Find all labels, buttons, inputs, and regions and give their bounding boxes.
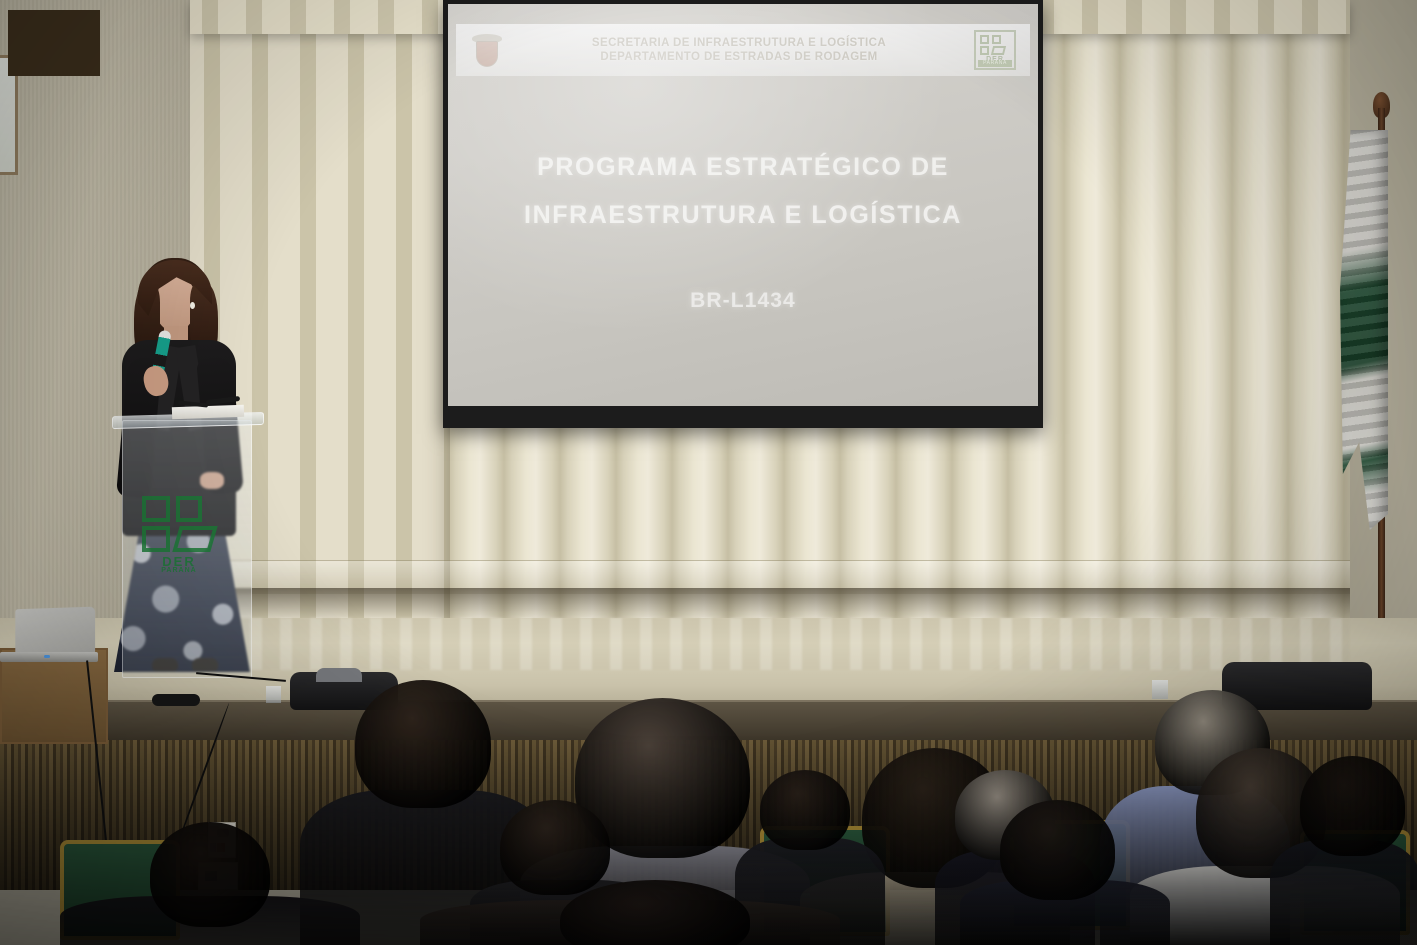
slide-title: PROGRAMA ESTRATÉGICO DE INFRAESTRUTURA E… (478, 144, 1008, 239)
audience-navy-suit-head (1000, 800, 1115, 900)
podium-der-logo-icon: DER PARANÁ (140, 492, 236, 576)
audience-dark-right-head (1300, 756, 1405, 856)
podium-papers (172, 405, 244, 420)
presenter-earring (190, 302, 195, 309)
side-table-shelf (8, 10, 100, 76)
projection-screen-frame: SECRETARIA DE INFRAESTRUTURA E LOGÍSTICA… (443, 0, 1043, 428)
laptop-led-indicator (44, 655, 50, 658)
curtain-bottom-shadow (190, 588, 1350, 620)
der-logo-sub: PARANÁ (978, 60, 1012, 67)
black-bag-flap (316, 668, 362, 682)
plastic-cup-left (266, 686, 281, 703)
slide-header-text: SECRETARIA DE INFRAESTRUTURA E LOGÍSTICA… (504, 36, 974, 65)
der-parana-logo-icon: DER PARANÁ (974, 30, 1016, 70)
slide-title-line1: PROGRAMA ESTRATÉGICO DE (478, 144, 1008, 192)
audience-far-right-c-head (760, 770, 850, 850)
slide-header-band: SECRETARIA DE INFRAESTRUTURA E LOGÍSTICA… (456, 24, 1030, 76)
audience-row1-left-head (150, 822, 270, 927)
slide-header-line1: SECRETARIA DE INFRAESTRUTURA E LOGÍSTICA (504, 36, 974, 50)
cable-adapter-box (152, 694, 200, 706)
auditorium-photo: SECRETARIA DE INFRAESTRUTURA E LOGÍSTICA… (0, 0, 1417, 945)
projection-screen-surface: SECRETARIA DE INFRAESTRUTURA E LOGÍSTICA… (448, 4, 1038, 406)
plastic-cup-right (1152, 680, 1168, 699)
podium-logo-sub: PARANÁ (140, 567, 218, 574)
audience-glasses-man-head (500, 800, 610, 895)
slide-title-line2: INFRAESTRUTURA E LOGÍSTICA (478, 192, 1008, 240)
audience-dark-head-head (355, 680, 491, 808)
slide-header-line2: DEPARTAMENTO DE ESTRADAS DE RODAGEM (504, 50, 974, 64)
laptop-screen (15, 607, 95, 658)
slide-project-code: BR-L1434 (448, 289, 1038, 313)
parana-state-crest-icon (470, 30, 504, 70)
